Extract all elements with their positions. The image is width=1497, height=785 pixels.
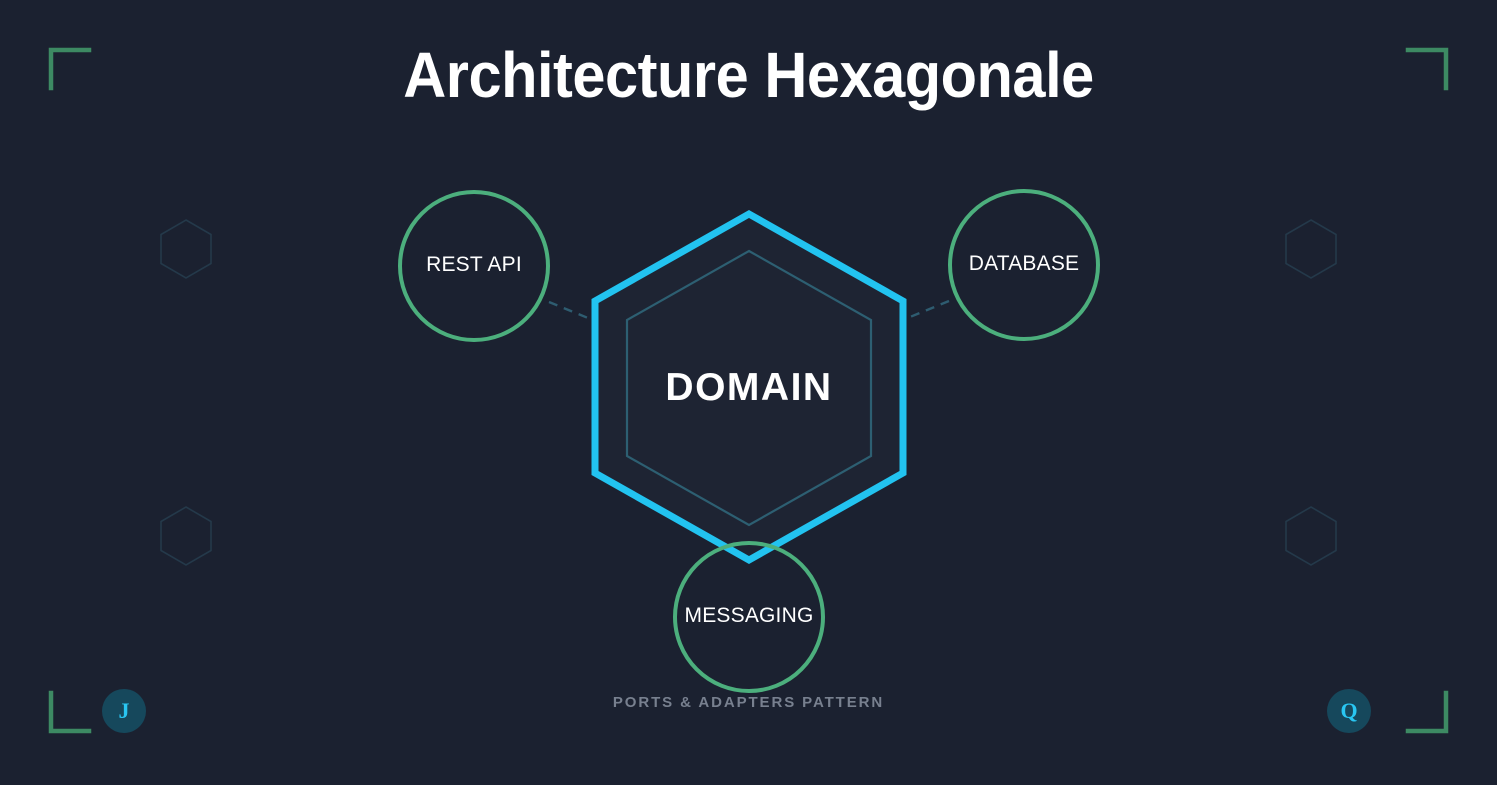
adapter-label-rest-api: REST API bbox=[374, 253, 574, 277]
badge-j-letter[interactable]: J bbox=[94, 698, 154, 724]
badge-q-letter[interactable]: Q bbox=[1319, 698, 1379, 724]
decorative-hexagon-icon bbox=[1286, 220, 1336, 278]
decorative-hexagon-icon bbox=[161, 220, 211, 278]
slide-canvas: Architecture Hexagonale DOMAIN REST API … bbox=[0, 0, 1497, 785]
adapter-label-messaging: MESSAGING bbox=[649, 604, 849, 628]
page-title: Architecture Hexagonale bbox=[52, 36, 1444, 114]
pattern-subtitle: PORTS & ADAPTERS PATTERN bbox=[0, 694, 1497, 711]
decorative-hexagon-icon bbox=[161, 507, 211, 565]
decorative-hexagon-icon bbox=[1286, 507, 1336, 565]
adapter-label-database: DATABASE bbox=[924, 252, 1124, 276]
domain-label: DOMAIN bbox=[549, 366, 949, 410]
